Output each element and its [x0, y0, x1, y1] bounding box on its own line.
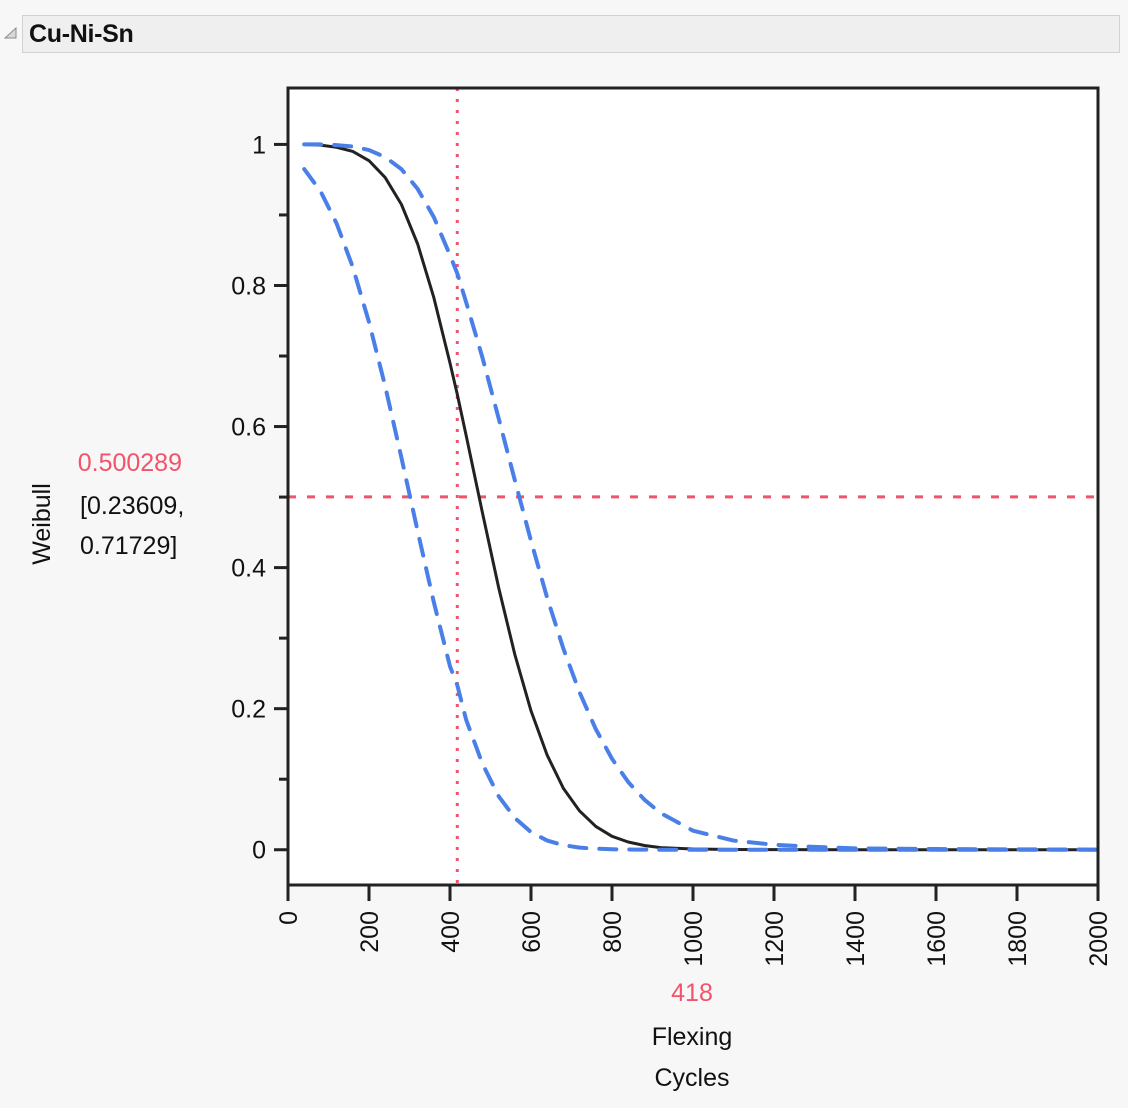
y-tick-label: 0.8 [231, 272, 266, 300]
x-axis-tick-labels: 0200400600800100012001400160018002000 [275, 911, 1113, 967]
x-annotation-value: 418 [671, 979, 713, 1007]
page-title: Cu-Ni-Sn [23, 20, 134, 49]
y-tick-label: 0 [252, 837, 266, 865]
y-axis-title: Weibull [28, 483, 56, 565]
weibull-survival-chart[interactable]: 00.20.40.60.81 0200400600800100012001400… [0, 54, 1128, 1108]
triangle-collapse-icon[interactable] [0, 14, 22, 54]
x-axis-ticks [288, 885, 1098, 901]
y-annotation-value: 0.500289 [78, 449, 182, 477]
outline-header: Cu-Ni-Sn [0, 14, 1128, 54]
y-tick-label: 0.6 [231, 414, 266, 442]
x-tick-label: 1600 [923, 911, 951, 967]
y-tick-label: 0.2 [231, 696, 266, 724]
x-axis-title-line2: Cycles [654, 1064, 729, 1092]
x-tick-label: 0 [275, 911, 303, 925]
y-annotation-interval-line2: 0.71729] [80, 532, 177, 560]
x-tick-label: 400 [437, 911, 465, 953]
outline-title-panel[interactable]: Cu-Ni-Sn [22, 15, 1120, 53]
x-tick-label: 1800 [1004, 911, 1032, 967]
y-tick-label: 0.4 [231, 555, 266, 583]
x-tick-label: 600 [518, 911, 546, 953]
x-tick-label: 200 [356, 911, 384, 953]
x-tick-label: 1000 [680, 911, 708, 967]
y-annotation-interval-line1: [0.23609, [80, 492, 184, 520]
weibull-plot-region[interactable]: 00.20.40.60.81 0200400600800100012001400… [0, 54, 1128, 1108]
y-axis-tick-labels: 00.20.40.60.81 [231, 131, 266, 864]
x-axis-title-line1: Flexing [652, 1023, 733, 1051]
x-tick-label: 1400 [842, 911, 870, 967]
x-tick-label: 800 [599, 911, 627, 953]
y-axis-ticks [274, 144, 288, 849]
x-tick-label: 1200 [761, 911, 789, 967]
y-tick-label: 1 [252, 131, 266, 159]
x-tick-label: 2000 [1085, 911, 1113, 967]
